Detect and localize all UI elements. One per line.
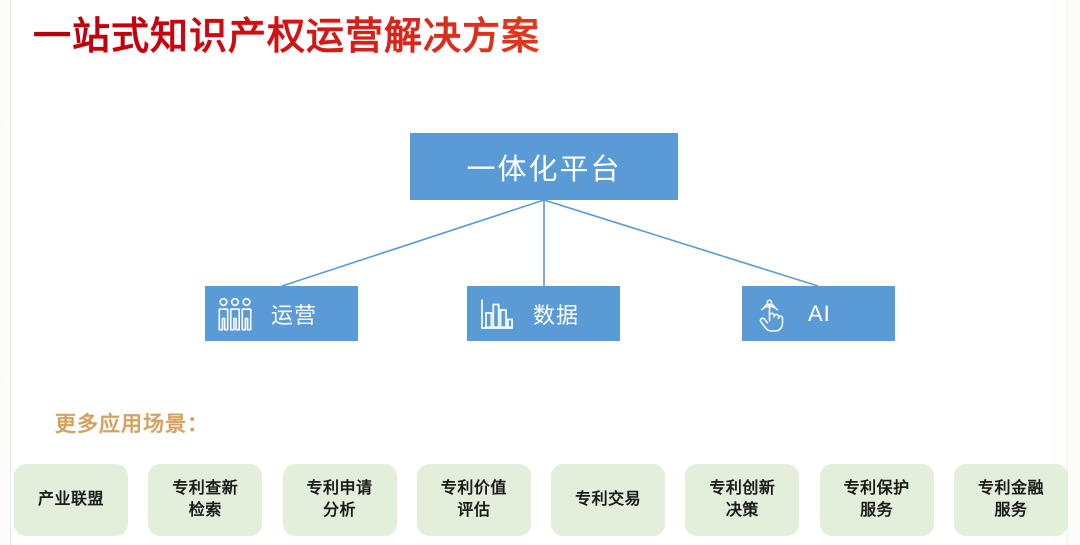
- scenario-chip-label: 专利金融 服务: [978, 478, 1044, 522]
- slide-canvas: 一站式知识产权运营解决方案 一体化平台 运营: [0, 0, 1080, 545]
- node-ai[interactable]: AI: [742, 286, 895, 341]
- node-integrated-platform-label: 一体化平台: [466, 146, 621, 188]
- scenario-chip[interactable]: 专利申请 分析: [283, 464, 397, 536]
- scenario-chip[interactable]: 产业联盟: [14, 464, 128, 536]
- bar-chart-icon: [477, 294, 517, 334]
- node-integrated-platform[interactable]: 一体化平台: [410, 133, 678, 200]
- more-scenarios-label: 更多应用场景：: [55, 408, 209, 438]
- scenario-chip-label: 专利保护 服务: [844, 478, 910, 522]
- scenario-chip[interactable]: 专利价值 评估: [417, 464, 531, 536]
- scenario-chip[interactable]: 专利查新 检索: [148, 464, 262, 536]
- node-data[interactable]: 数据: [467, 286, 620, 341]
- node-operations[interactable]: 运营: [205, 286, 358, 341]
- scenario-chip-list: 产业联盟 专利查新 检索 专利申请 分析 专利价值 评估 专利交易 专利创新 决…: [14, 464, 1068, 536]
- scenario-chip-label: 专利申请 分析: [307, 478, 373, 522]
- scenario-chip[interactable]: 专利创新 决策: [685, 464, 799, 536]
- scenario-chip[interactable]: 专利金融 服务: [954, 464, 1068, 536]
- scenario-chip-label: 专利交易: [575, 489, 641, 511]
- node-ai-label: AI: [808, 301, 831, 327]
- page-title: 一站式知识产权运营解决方案: [33, 12, 540, 62]
- scenario-chip-label: 产业联盟: [38, 489, 104, 511]
- scenario-chip-label: 专利查新 检索: [172, 478, 238, 522]
- scenario-chip[interactable]: 专利交易: [551, 464, 665, 536]
- scenario-chip[interactable]: 专利保护 服务: [820, 464, 934, 536]
- node-data-label: 数据: [533, 298, 579, 330]
- scenario-chip-label: 专利创新 决策: [709, 478, 775, 522]
- scenario-chip-label: 专利价值 评估: [441, 478, 507, 522]
- three-people-icon: [215, 294, 255, 334]
- left-edge-divider: [10, 0, 11, 545]
- touch-hand-icon: [752, 294, 792, 334]
- node-operations-label: 运营: [271, 298, 317, 330]
